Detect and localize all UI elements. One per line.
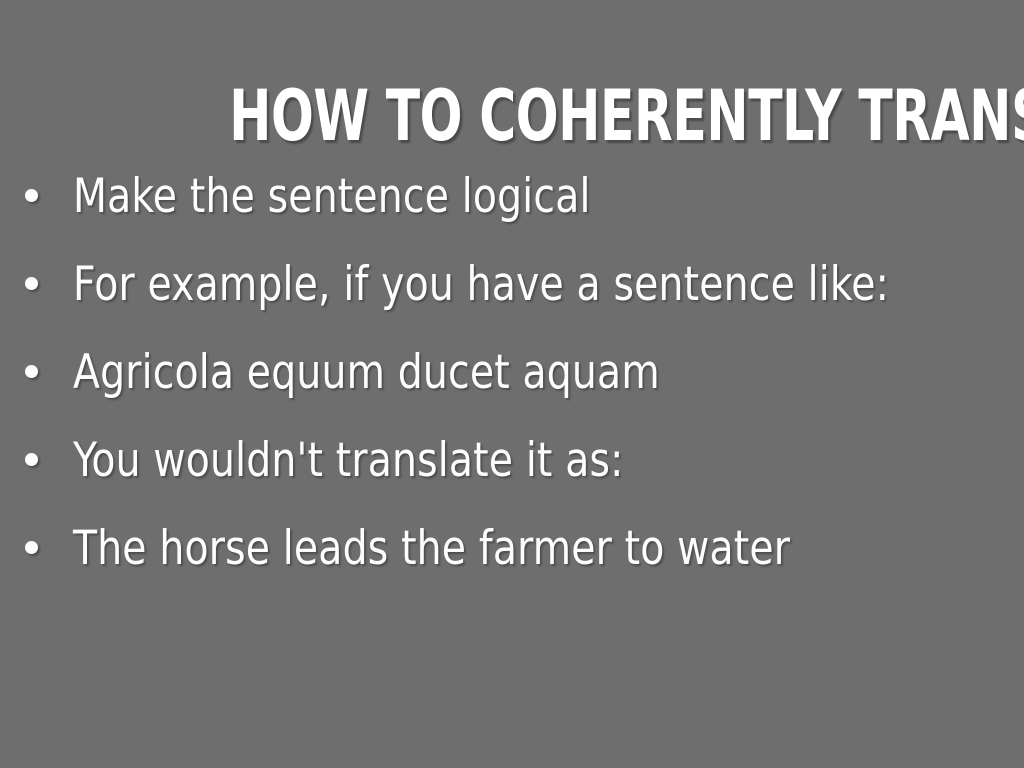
bullet-text: Agricola equum ducet aquam [73, 349, 660, 396]
slide-title: How to Coherently Translate [229, 81, 986, 151]
bullet-point-icon [25, 189, 38, 202]
bullet-text: Make the sentence logical [73, 173, 591, 220]
list-item: Agricola equum ducet aquam [0, 328, 1024, 416]
bullet-point-icon [25, 365, 38, 378]
bullet-point-icon [25, 453, 38, 466]
bullet-text: The horse leads the farmer to water [73, 525, 790, 572]
bullet-point-icon [25, 541, 38, 554]
list-item: You wouldn't translate it as: [0, 416, 1024, 504]
bullet-text: You wouldn't translate it as: [73, 437, 624, 484]
presentation-slide: How to Coherently Translate Make the sen… [0, 0, 1024, 768]
list-item: For example, if you have a sentence like… [0, 240, 1024, 328]
list-item: The horse leads the farmer to water [0, 504, 1024, 592]
bullet-point-icon [25, 277, 38, 290]
bullet-text: For example, if you have a sentence like… [73, 261, 889, 308]
bullet-list: Make the sentence logical For example, i… [0, 152, 1024, 592]
list-item: Make the sentence logical [0, 152, 1024, 240]
